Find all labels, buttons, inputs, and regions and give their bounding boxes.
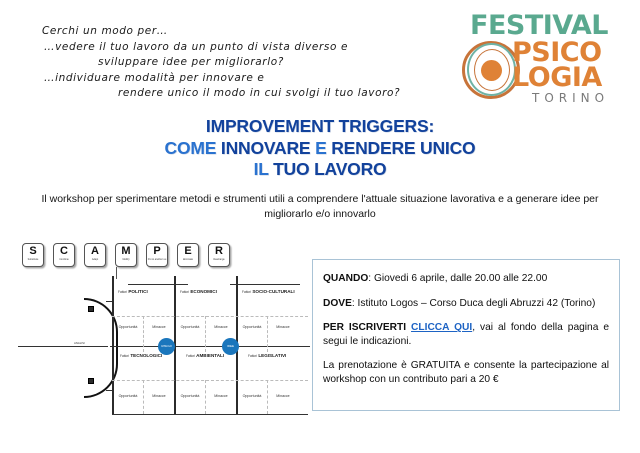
diagram-cell-minacce-6: Minacce: [269, 394, 297, 399]
diagram-node-top-icon: [88, 306, 94, 312]
diagram-factor-politici-prefix: Fattori: [118, 290, 127, 294]
diagram-cell-opportunita-1: Opportunità: [114, 325, 142, 330]
diagram-node-bottom-icon: [88, 378, 94, 384]
scamper-key-e-letter: E: [178, 245, 198, 258]
diagram-cell-opportunita-5: Opportunità: [176, 394, 204, 399]
intro-line-5: rendere unico il modo in cui svolgi il t…: [42, 86, 432, 102]
diagram-sub-divider-top-3: [267, 316, 268, 352]
logo-word-festival: FESTIVAL: [470, 12, 608, 39]
scamper-key-e-sub: Eliminate: [179, 258, 197, 261]
diagram-cell-minacce-4: Minacce: [145, 394, 173, 399]
diagram-cell-minacce-2: Minacce: [207, 325, 235, 330]
scamper-key-c-sub: Combine: [55, 258, 73, 261]
clicca-qui-link[interactable]: CLICCA QUI: [411, 322, 472, 333]
event-info-box: QUANDO: Giovedi 6 aprile, dalle 20.00 al…: [312, 259, 620, 411]
diagram-sub-divider-bot-1: [143, 380, 144, 414]
intro-line-2: …vedere il tuo lavoro da un punto di vis…: [42, 40, 432, 56]
scamper-key-p-letter: P: [147, 245, 167, 258]
diagram-circle-rischi: RISCHI: [158, 338, 175, 355]
scamper-key-r-letter: R: [209, 245, 229, 258]
diagram-cell-minacce-5: Minacce: [207, 394, 235, 399]
scamper-key-e: E Eliminate: [177, 243, 199, 267]
pestle-analysis-diagram: ANALISI Fattori POLITICI Fattori ECONOMI…: [18, 268, 310, 420]
scamper-keys-strip: S Substitute C Combine A Adapt M Modify …: [22, 243, 222, 269]
scamper-key-r-sub: Rearrange: [210, 258, 228, 261]
diagram-cell-opportunita-4: Opportunità: [114, 394, 142, 399]
diagram-main-axis: [110, 346, 310, 347]
scamper-key-s: S Substitute: [22, 243, 44, 267]
diagram-cell-opportunita-2: Opportunità: [176, 325, 204, 330]
info-dove-line: DOVE: Istituto Logos – Corso Duca degli …: [323, 297, 609, 311]
diagram-cell-opportunita-6: Opportunità: [238, 394, 266, 399]
info-dove-label: DOVE: [323, 298, 352, 309]
diagram-sub-divider-bot-2: [205, 380, 206, 414]
title-line-2-rendere-unico: RENDERE UNICO: [331, 138, 475, 158]
diagram-factor-legislativi-name: LEGISLATIVI: [258, 353, 286, 358]
info-quando-text: : Giovedi 6 aprile, dalle 20.00 alle 22.…: [368, 273, 547, 284]
diagram-sub-divider-top-1: [143, 316, 144, 352]
diagram-factor-socio-culturali: Fattori SOCIO-CULTURALI: [242, 289, 295, 295]
title-line-2-innovare: INNOVARE: [221, 138, 310, 158]
info-prenotazione-line: La prenotazione è GRATUITA e consente la…: [323, 359, 609, 386]
scamper-key-s-letter: S: [23, 245, 43, 258]
diagram-factor-politici: Fattori POLITICI: [118, 289, 148, 295]
info-iscriverti-line: PER ISCRIVERTI CLICCA QUI, vai al fondo …: [323, 321, 609, 348]
diagram-topline-a: [128, 284, 188, 285]
diagram-factor-economici-prefix: Fattori: [180, 290, 189, 294]
title-line-1: IMPROVEMENT TRIGGERS:: [0, 116, 640, 138]
title-line-3-tuo-lavoro: TUO LAVORO: [273, 159, 386, 179]
diagram-factor-ambientali-prefix: Fattori: [186, 354, 195, 358]
logo-center-dot: [481, 60, 502, 81]
intro-line-4: …individuare modalità per innovare e: [42, 71, 432, 87]
scamper-key-p-sub: Put to another use: [148, 258, 166, 261]
title-line-3-il: IL: [254, 159, 274, 179]
title-line-2-come: COME: [165, 138, 221, 158]
scamper-key-m-sub: Modify: [117, 258, 135, 261]
scamper-key-p: P Put to another use: [146, 243, 168, 267]
title-line-2: COME INNOVARE E RENDERE UNICO: [0, 138, 640, 160]
info-iscriverti-label: PER ISCRIVERTI: [323, 322, 411, 333]
scamper-key-a-sub: Adapt: [86, 258, 104, 261]
diagram-factor-politici-name: POLITICI: [128, 289, 147, 294]
diagram-cell-opportunita-3: Opportunità: [238, 325, 266, 330]
intro-line-1: Cerchi un modo per…: [42, 24, 432, 40]
logo-word-logia: LOGIA: [512, 64, 602, 91]
scamper-key-m: M Modify: [115, 243, 137, 267]
diagram-factor-economici: Fattori ECONOMICI: [180, 289, 217, 295]
scamper-key-m-letter: M: [116, 245, 136, 258]
diagram-topline-b: [230, 284, 300, 285]
info-quando-line: QUANDO: Giovedi 6 aprile, dalle 20.00 al…: [323, 272, 609, 286]
diagram-sub-divider-bot-3: [267, 380, 268, 414]
subtitle-text: Il workshop per sperimentare metodi e st…: [38, 192, 602, 222]
diagram-baseline: [112, 414, 308, 415]
diagram-factor-ambientali: Fattori AMBIENTALI: [186, 353, 224, 359]
diagram-sub-divider-top-2: [205, 316, 206, 352]
page-title: IMPROVEMENT TRIGGERS: COME INNOVARE E RE…: [0, 116, 640, 181]
logo-word-torino: TORINO: [532, 92, 609, 105]
scamper-key-c-letter: C: [54, 245, 74, 258]
scamper-key-a-letter: A: [85, 245, 105, 258]
diagram-factor-socio-culturali-prefix: Fattori: [242, 290, 251, 294]
intro-line-3: sviluppare idee per migliorarlo?: [42, 55, 432, 71]
scamper-key-r: R Rearrange: [208, 243, 230, 267]
info-dove-text: : Istituto Logos – Corso Duca degli Abru…: [352, 298, 596, 309]
info-quando-label: QUANDO: [323, 273, 368, 284]
diagram-factor-legislativi-prefix: Fattori: [248, 354, 257, 358]
diagram-dashed-row-bottom: [112, 380, 308, 381]
diagram-circle-idee: IDEE: [222, 338, 239, 355]
diagram-dashed-row-top: [112, 316, 308, 317]
diagram-factor-ambientali-name: AMBIENTALI: [196, 353, 224, 358]
diagram-factor-tecnologici-prefix: Fattori: [120, 354, 129, 358]
diagram-factor-socio-culturali-name: SOCIO-CULTURALI: [252, 289, 294, 294]
diagram-factor-tecnologici-name: TECNOLOGICI: [130, 353, 162, 358]
festival-psicologia-logo: FESTIVAL PSICO LOGIA TORINO: [440, 12, 630, 112]
diagram-cell-minacce-1: Minacce: [145, 325, 173, 330]
diagram-factor-economici-name: ECONOMICI: [190, 289, 217, 294]
scamper-key-c: C Combine: [53, 243, 75, 267]
title-line-2-e: E: [310, 138, 331, 158]
diagram-cell-minacce-3: Minacce: [269, 325, 297, 330]
title-line-3: IL TUO LAVORO: [0, 159, 640, 181]
scamper-key-s-sub: Substitute: [24, 258, 42, 261]
diagram-factor-tecnologici: Fattori TECNOLOGICI: [120, 353, 162, 359]
diagram-factor-legislativi: Fattori LEGISLATIVI: [248, 353, 286, 359]
scamper-key-a: A Adapt: [84, 243, 106, 267]
intro-text-block: Cerchi un modo per… …vedere il tuo lavor…: [42, 24, 432, 102]
